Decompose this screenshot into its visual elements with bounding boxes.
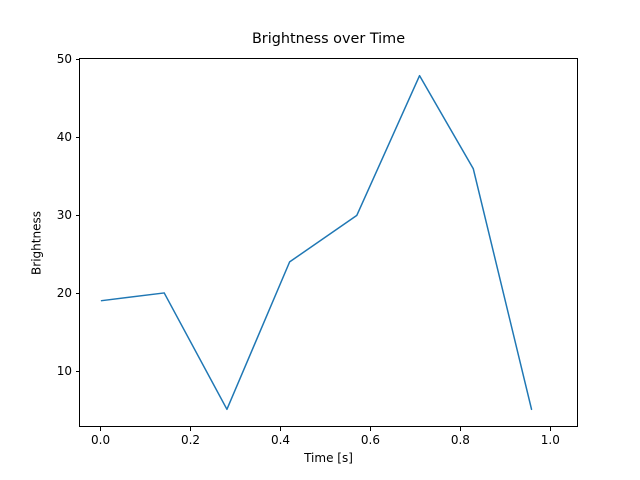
plot-area xyxy=(80,59,577,426)
x-tick-mark xyxy=(100,427,101,431)
x-tick-label: 0.8 xyxy=(451,434,470,446)
x-tick-mark xyxy=(460,427,461,431)
x-tick-mark xyxy=(190,427,191,431)
y-tick-label: 50 xyxy=(36,53,72,65)
y-tick-label: 10 xyxy=(36,365,72,377)
plot-axes xyxy=(79,58,578,427)
x-axis-label: Time [s] xyxy=(79,452,578,464)
y-tick-label: 30 xyxy=(36,209,72,221)
x-tick-label: 0.4 xyxy=(271,434,290,446)
chart-title: Brightness over Time xyxy=(79,32,578,46)
x-tick-label: 0.2 xyxy=(181,434,200,446)
x-tick-label: 0.0 xyxy=(91,434,110,446)
y-tick-label: 20 xyxy=(36,287,72,299)
x-tick-mark xyxy=(550,427,551,431)
y-tick-label: 40 xyxy=(36,131,72,143)
brightness-line-series xyxy=(102,76,532,410)
matplotlib-figure: Brightness over Time Brightness Time [s]… xyxy=(0,0,640,480)
x-tick-mark xyxy=(280,427,281,431)
x-tick-mark xyxy=(370,427,371,431)
x-tick-label: 0.6 xyxy=(361,434,380,446)
x-tick-label: 1.0 xyxy=(541,434,560,446)
